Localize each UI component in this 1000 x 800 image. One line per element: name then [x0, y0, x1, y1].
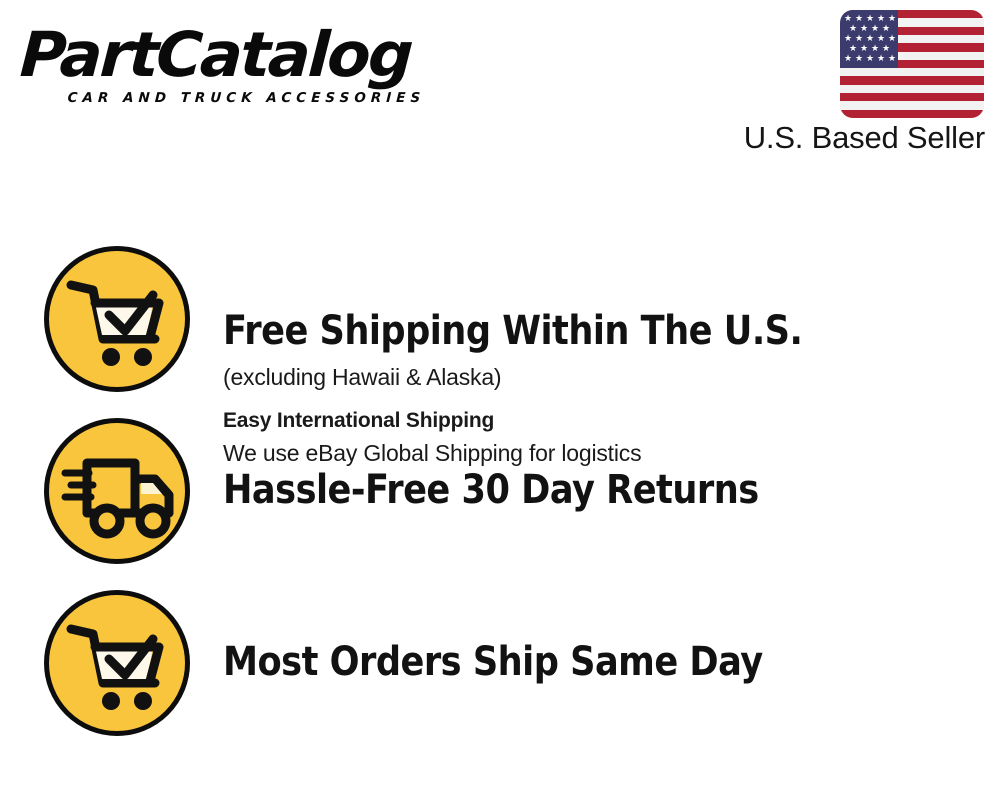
- shopping-cart-check-icon: [44, 590, 190, 736]
- page-header: PartCatalog CAR AND TRUCK ACCESSORIES: [0, 0, 1000, 170]
- feature-title: Hassle-Free 30 Day Returns: [223, 467, 759, 513]
- brand-logo[interactable]: PartCatalog CAR AND TRUCK ACCESSORIES: [22, 22, 492, 114]
- us-based-seller-label: U.S. Based Seller: [744, 120, 985, 156]
- feature-title: Most Orders Ship Same Day: [223, 639, 763, 685]
- us-flag-icon: [840, 10, 984, 118]
- feature-subtitle: (excluding Hawaii & Alaska): [223, 362, 501, 392]
- brand-wordmark: PartCatalog: [18, 22, 412, 88]
- feature-subtitle: We use eBay Global Shipping for logistic…: [223, 438, 641, 468]
- feature-title: Free Shipping Within The U.S.: [223, 308, 802, 354]
- flag-canton: [840, 10, 898, 68]
- shopping-cart-check-icon: [44, 246, 190, 392]
- delivery-truck-icon: [44, 418, 190, 564]
- feature-subtitle-bold: Easy International Shipping: [223, 406, 494, 436]
- brand-tagline: CAR AND TRUCK ACCESSORIES: [67, 90, 425, 106]
